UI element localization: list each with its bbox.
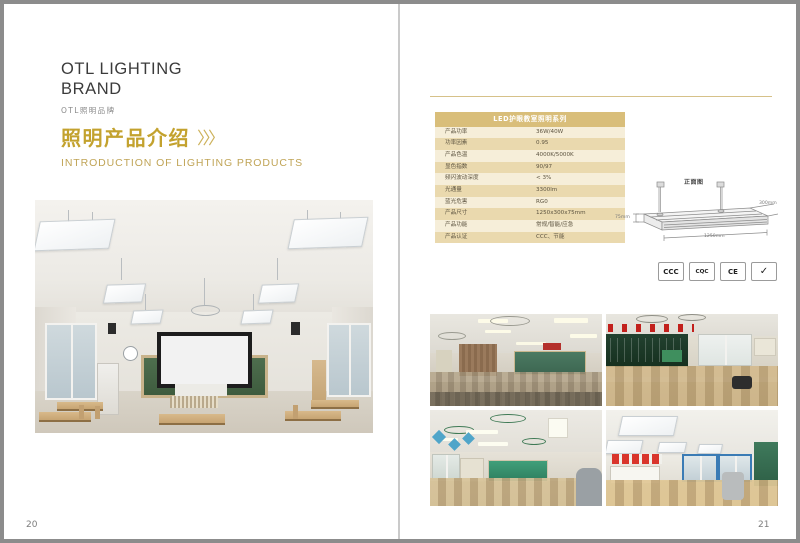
photo2-desk-rows bbox=[606, 366, 778, 406]
rohs-badge: ✓ bbox=[751, 262, 777, 281]
spec-row-7: 产品尺寸 1250x300x75mm bbox=[435, 208, 625, 220]
ce-badge: CE bbox=[720, 262, 746, 281]
render-desk-3 bbox=[159, 414, 225, 425]
spec-label-4: 频闪波动深度 bbox=[435, 173, 530, 185]
spec-value-0: 36W/40W bbox=[530, 127, 625, 139]
render-podium bbox=[175, 384, 227, 396]
spec-label-8: 产品功能 bbox=[435, 220, 530, 232]
catalog-spread: OTL LIGHTING BRAND OTL照明品牌 照明产品介绍 〉〉〉 IN… bbox=[0, 0, 800, 543]
photo1-tube-4 bbox=[570, 334, 597, 338]
render-chair-3 bbox=[293, 405, 298, 419]
classroom-photo-1 bbox=[430, 314, 602, 406]
render-led-panel-2 bbox=[287, 217, 368, 250]
photo1-red-banner bbox=[543, 343, 561, 350]
spec-label-5: 光通量 bbox=[435, 185, 530, 197]
page-number-right: 21 bbox=[758, 520, 769, 530]
brand-subtitle: OTL照明品牌 bbox=[61, 105, 182, 116]
spec-table: LED护眼教室照明系列 产品功率 36W/40W 功率因素 0.95 产品色温 … bbox=[435, 112, 625, 243]
right-page: LED护眼教室照明系列 产品功率 36W/40W 功率因素 0.95 产品色温 … bbox=[400, 4, 796, 539]
page-gutter bbox=[398, 4, 400, 539]
section-title-en: INTRODUCTION OF LIGHTING PRODUCTS bbox=[61, 157, 303, 169]
chevrons-icon: 〉〉〉 bbox=[197, 124, 222, 149]
spec-row-8: 产品功能 常规/智能/应急 bbox=[435, 220, 625, 232]
hero-classroom-render bbox=[35, 200, 373, 433]
classroom-photo-2 bbox=[606, 314, 778, 406]
spec-label-9: 产品认证 bbox=[435, 232, 530, 244]
photo1-desk-shadow bbox=[430, 392, 602, 406]
render-rod-6 bbox=[277, 258, 278, 280]
photo3-window bbox=[432, 454, 460, 480]
spec-value-5: 3300lm bbox=[530, 185, 625, 197]
photo4-chair bbox=[722, 472, 744, 500]
spec-row-1: 功率因素 0.95 bbox=[435, 138, 625, 150]
brand-line-1: OTL LIGHTING bbox=[61, 59, 182, 79]
spec-row-9: 产品认证 CCC、节能 bbox=[435, 232, 625, 244]
photo3-tube-2 bbox=[478, 442, 508, 446]
left-page: OTL LIGHTING BRAND OTL照明品牌 照明产品介绍 〉〉〉 IN… bbox=[4, 4, 398, 539]
render-led-panel-6 bbox=[240, 309, 273, 324]
photo4-led-panel-3 bbox=[657, 442, 687, 453]
photo1-tube-2 bbox=[554, 318, 588, 323]
spec-label-2: 产品色温 bbox=[435, 150, 530, 162]
spec-row-4: 频闪波动深度 < 3% bbox=[435, 173, 625, 185]
photo2-wall-poster bbox=[754, 338, 776, 356]
photo4-led-panel-1 bbox=[618, 416, 678, 436]
spec-table-header: LED护眼教室照明系列 bbox=[435, 112, 625, 127]
render-ceiling-fan bbox=[191, 305, 220, 316]
photo4-red-decor-strip bbox=[612, 454, 662, 464]
photo1-ceiling-fan-2 bbox=[438, 332, 466, 340]
photo2-green-board bbox=[662, 350, 682, 362]
render-speaker-right bbox=[291, 322, 300, 335]
spec-value-1: 0.95 bbox=[530, 138, 625, 150]
photo1-ceiling-fan-1 bbox=[490, 316, 530, 326]
render-led-panel-4 bbox=[258, 283, 299, 303]
spec-value-8: 常规/智能/应急 bbox=[530, 220, 625, 232]
photo1-tube-5 bbox=[516, 342, 546, 345]
drawing-title: 正面图 bbox=[684, 177, 704, 186]
product-line-drawing: 正面图 bbox=[628, 164, 778, 259]
photo2-bag bbox=[732, 376, 752, 389]
photo2-window bbox=[698, 334, 752, 366]
spec-label-6: 蓝光危害 bbox=[435, 197, 530, 209]
gold-divider-rule bbox=[430, 96, 772, 97]
render-rod-5 bbox=[121, 258, 122, 280]
render-projector-screen bbox=[157, 332, 252, 388]
photo3-tube-1 bbox=[466, 430, 498, 434]
spec-row-5: 光通量 3300lm bbox=[435, 185, 625, 197]
spec-value-6: RG0 bbox=[530, 197, 625, 209]
render-window-right bbox=[327, 323, 371, 397]
render-desk-5 bbox=[311, 400, 359, 409]
page-number-left: 20 bbox=[26, 520, 37, 530]
spec-row-3: 显色指数 90/97 bbox=[435, 162, 625, 174]
spec-value-9: CCC、节能 bbox=[530, 232, 625, 244]
render-chair-1 bbox=[79, 405, 84, 419]
spec-label-3: 显色指数 bbox=[435, 162, 530, 174]
photo3-pendant-lamp bbox=[548, 418, 568, 438]
render-speaker-left bbox=[108, 323, 116, 334]
section-heading: 照明产品介绍 〉〉〉 INTRODUCTION OF LIGHTING PROD… bbox=[61, 122, 303, 169]
photo2-ceiling-fan-2 bbox=[678, 314, 706, 321]
cqc-badge: CQC bbox=[689, 262, 715, 281]
drawing-dim-depth: 300mm bbox=[759, 201, 777, 206]
spec-row-6: 蓝光危害 RG0 bbox=[435, 197, 625, 209]
render-rod-8 bbox=[253, 294, 254, 310]
spec-label-7: 产品尺寸 bbox=[435, 208, 530, 220]
drawing-dim-height: 75mm bbox=[615, 215, 630, 220]
brand-block: OTL LIGHTING BRAND OTL照明品牌 bbox=[61, 59, 182, 116]
photo4-led-panel-2 bbox=[606, 440, 643, 454]
section-title-cn: 照明产品介绍 bbox=[61, 122, 190, 151]
render-led-panel-3 bbox=[103, 283, 146, 303]
ccc-badge-label: CCC bbox=[663, 268, 678, 276]
ccc-badge: CCC bbox=[658, 262, 684, 281]
ce-badge-label: CE bbox=[728, 268, 738, 276]
drawing-dim-width: 1250mm bbox=[704, 234, 725, 239]
render-book-row bbox=[170, 396, 218, 408]
photo3-ceiling-fan-3 bbox=[522, 438, 546, 445]
spec-row-2: 产品色温 4000K/5000K bbox=[435, 150, 625, 162]
photo3-ceiling-fan-1 bbox=[490, 414, 526, 423]
spec-table-body: LED护眼教室照明系列 产品功率 36W/40W 功率因素 0.95 产品色温 … bbox=[435, 112, 625, 243]
photo3-person bbox=[576, 468, 602, 506]
render-chair-2 bbox=[95, 406, 100, 419]
render-led-panel-5 bbox=[130, 309, 163, 324]
spec-label-1: 功率因素 bbox=[435, 138, 530, 150]
rohs-badge-label: ✓ bbox=[760, 266, 768, 277]
section-title-cn-wrap: 照明产品介绍 〉〉〉 bbox=[61, 122, 303, 151]
photo1-tube-3 bbox=[485, 330, 511, 333]
photo4-led-panel-4 bbox=[697, 444, 723, 454]
render-wall-clock bbox=[123, 346, 138, 361]
spec-value-2: 4000K/5000K bbox=[530, 150, 625, 162]
brand-line-2: BRAND bbox=[61, 79, 182, 99]
spec-value-4: < 3% bbox=[530, 173, 625, 185]
spec-value-7: 1250x300x75mm bbox=[530, 208, 625, 220]
classroom-photo-4 bbox=[606, 410, 778, 506]
spec-label-0: 产品功率 bbox=[435, 127, 530, 139]
certification-badges: CCC CQC CE ✓ bbox=[658, 262, 777, 281]
render-rod-7 bbox=[145, 294, 146, 310]
photo2-ceiling-fan-1 bbox=[636, 315, 668, 323]
render-window-left bbox=[45, 323, 97, 400]
spec-value-3: 90/97 bbox=[530, 162, 625, 174]
cqc-badge-label: CQC bbox=[696, 269, 709, 275]
photo2-red-motto bbox=[608, 324, 694, 332]
spec-table-header-row: LED护眼教室照明系列 bbox=[435, 112, 625, 127]
spec-row-0: 产品功率 36W/40W bbox=[435, 127, 625, 139]
render-fan-rod bbox=[204, 278, 205, 305]
photo4-desk-rows bbox=[606, 480, 778, 506]
render-led-panel-1 bbox=[35, 219, 116, 252]
photo4-window-1 bbox=[682, 454, 718, 482]
photo1-wall-chart bbox=[436, 350, 452, 374]
classroom-photo-3 bbox=[430, 410, 602, 506]
